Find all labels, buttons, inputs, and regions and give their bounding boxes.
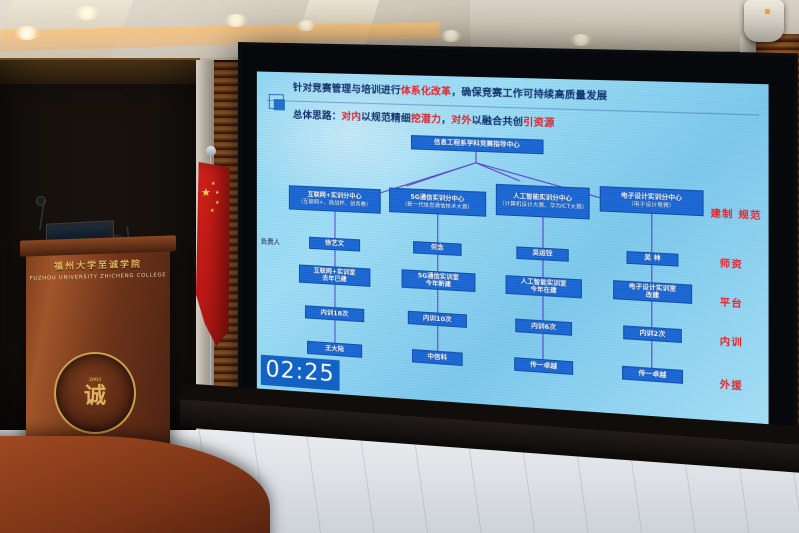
- wall-speaker: [744, 0, 784, 42]
- crest-year: 2003: [56, 378, 134, 426]
- org-node-subcenter-4: 电子设计实训分中心 （电子设计竞赛）: [600, 186, 704, 216]
- org-node-lab-1: 互联网+实训室 去年已建: [299, 264, 370, 286]
- flag-star-small-icon: ★: [215, 199, 219, 208]
- edge-root-stem: [475, 152, 476, 162]
- edge-col2-c: [437, 290, 438, 313]
- side-label-0: 建制 规范: [711, 206, 762, 222]
- presentation-slide: 针对竞赛管理与培训进行体系化改革，确保竞赛工作可持续高质量发展 总体思路：对内以…: [257, 71, 769, 430]
- lab-3-status: 今年在建: [530, 286, 556, 295]
- countdown-timer: 02:25: [261, 355, 340, 391]
- downlight-icon: [14, 26, 40, 40]
- row-axis-label-owner: 负责人: [261, 236, 280, 246]
- downlight-icon: [570, 34, 592, 46]
- org-node-subcenter-1: 互联网+实训分中心 （互联网+、挑战杯、创青春）: [289, 185, 381, 214]
- edge-col1-d: [334, 320, 335, 342]
- org-node-partner-4: 传一卓越: [622, 366, 683, 384]
- edge-col4-d: [651, 341, 652, 368]
- screen-surface: 针对竞赛管理与培训进行体系化改革，确保竞赛工作可持续高质量发展 总体思路：对内以…: [257, 71, 769, 430]
- slide-heading-line-2: 总体思路：对内以规范精细挖潜力，对外以融合共创引资源: [293, 107, 759, 137]
- lecture-hall-photo: 针对竞赛管理与培训进行体系化改革，确保竞赛工作可持续高质量发展 总体思路：对内以…: [0, 0, 799, 533]
- edge-col4-c: [651, 301, 652, 327]
- org-node-lab-3: 人工智能实训室 今年在建: [506, 275, 582, 298]
- org-node-subcenter-2: 5G通信实训分中心 （新一代信息通信技术大赛）: [389, 188, 486, 217]
- org-node-subcenter-3: 人工智能实训分中心 （计算机设计大赛、华为ICT大赛）: [496, 184, 590, 220]
- lab-4-status: 改建: [646, 292, 660, 301]
- subcenter-4-subtitle: （电子设计竞赛）: [628, 201, 675, 210]
- org-node-partner-1: 王大陆: [307, 341, 362, 358]
- edge-col2-a: [437, 214, 438, 242]
- edge-col1-b: [334, 250, 335, 266]
- edge-col4-a: [651, 214, 652, 253]
- edge-col3-b: [542, 260, 543, 277]
- flag-star-small-icon: ★: [215, 189, 219, 198]
- edge-col2-d: [437, 326, 438, 351]
- edge-col4-b: [651, 265, 652, 282]
- downlight-icon: [224, 14, 248, 27]
- downlight-icon: [296, 20, 316, 31]
- lab-1-status: 去年已建: [322, 275, 347, 284]
- side-label-4: 外援: [720, 377, 743, 393]
- edge-col1-a: [334, 212, 335, 238]
- org-node-partner-2: 中信科: [412, 349, 463, 366]
- side-label-2: 平台: [720, 295, 743, 310]
- org-node-root: 信息工程系学科竞赛指导中心: [411, 135, 544, 154]
- org-node-lab-4: 电子设计实训室 改建: [613, 280, 692, 304]
- org-node-partner-3: 传一卓越: [514, 357, 573, 375]
- flag-star-small-icon: ★: [210, 207, 214, 216]
- edge-col1-c: [334, 285, 335, 307]
- downlight-icon: [74, 6, 100, 20]
- subcenter-3-subtitle: （计算机设计大赛、华为ICT大赛）: [499, 200, 586, 210]
- edge-col2-b: [437, 255, 438, 272]
- org-node-lab-2: 5G通信实训室 今年新建: [402, 269, 476, 292]
- bullet-square-icon: [269, 94, 284, 110]
- flag-pole-finial: [206, 146, 216, 156]
- lab-2-status: 今年新建: [426, 280, 451, 289]
- edge-col3-a: [542, 217, 543, 248]
- flag-star-small-icon: ★: [211, 180, 215, 189]
- downlight-icon: [440, 30, 462, 42]
- flag-star-large-icon: ★: [201, 188, 211, 197]
- edge-root-to-col-2: [406, 162, 476, 186]
- college-crest: 诚 2003: [54, 352, 136, 434]
- side-label-3: 内训: [720, 334, 743, 350]
- edge-col3-c: [542, 296, 543, 320]
- edge-col3-d: [542, 334, 543, 359]
- side-label-1: 师资: [720, 256, 743, 271]
